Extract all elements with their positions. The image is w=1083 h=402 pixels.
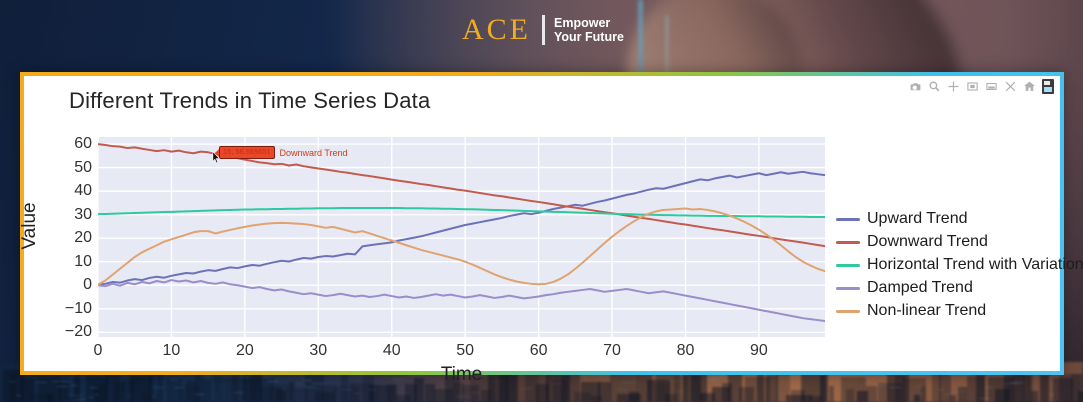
- cityscape-building: [829, 386, 835, 402]
- legend-item[interactable]: Downward Trend: [836, 231, 1083, 253]
- cityscape-building: [950, 395, 956, 402]
- cityscape-window-light: [980, 398, 990, 399]
- y-axis-tick-label: 50: [74, 159, 92, 177]
- series-canvas: [98, 137, 825, 337]
- cityscape-window-light: [234, 392, 243, 393]
- y-axis-tick-label: 60: [74, 135, 92, 153]
- tooltip-trace-name: Downward Trend: [280, 148, 348, 158]
- cityscape-window-light: [306, 387, 316, 388]
- legend-item[interactable]: Damped Trend: [836, 277, 1083, 299]
- logo-tagline-line1: Empower: [554, 16, 624, 30]
- legend-item-label: Horizontal Trend with Variation: [867, 256, 1083, 274]
- x-axis-tick-label: 0: [94, 342, 103, 360]
- cityscape-window-light: [956, 391, 965, 392]
- cityscape-window-light: [282, 389, 286, 390]
- x-axis-tick-label: 70: [603, 342, 621, 360]
- autoscale-icon[interactable]: [1004, 80, 1017, 93]
- cityscape-window-light: [341, 389, 352, 390]
- cityscape-window-light: [95, 394, 98, 395]
- cityscape-window-light: [368, 389, 376, 390]
- cityscape-window-light: [52, 381, 67, 382]
- cityscape-window-light: [355, 393, 359, 394]
- zoom-icon[interactable]: [928, 80, 941, 93]
- cityscape-building: [276, 389, 287, 402]
- download-plot-as-png-icon[interactable]: [909, 80, 922, 93]
- y-axis-tick-label: −10: [65, 300, 92, 318]
- chart-panel: Different Trends in Time Series Data Val…: [20, 72, 1064, 375]
- y-axis-tick-label: 40: [74, 182, 92, 200]
- ace-wordmark: ACE: [462, 15, 531, 45]
- cityscape-window-light: [127, 396, 132, 397]
- page-title: Different Trends in Time Series Data: [69, 88, 430, 114]
- series-line: [98, 172, 825, 285]
- cityscape-window-light: [74, 399, 85, 400]
- cityscape-window-light: [71, 385, 77, 386]
- plotly-logo-icon[interactable]: [1042, 79, 1054, 94]
- mouse-cursor-icon: [212, 151, 221, 164]
- cityscape-window-light: [918, 386, 922, 387]
- reset-axes-icon[interactable]: [1023, 80, 1036, 93]
- cityscape-window-light: [1012, 382, 1026, 383]
- cityscape-building: [1031, 391, 1038, 402]
- cityscape-building: [387, 384, 395, 402]
- cityscape-window-light: [195, 394, 204, 395]
- legend-item[interactable]: Non-linear Trend: [836, 300, 1083, 322]
- x-axis-tick-label: 50: [456, 342, 474, 360]
- cityscape-window-light: [303, 386, 307, 387]
- cityscape-window-light: [175, 387, 184, 388]
- cityscape-window-light: [153, 387, 165, 388]
- cityscape-window-light: [89, 397, 95, 398]
- cityscape-window-light: [16, 395, 21, 396]
- hover-tooltip: 15, 56.569651 Downward Trend: [210, 146, 347, 159]
- pan-icon[interactable]: [947, 80, 960, 93]
- cityscape-building: [10, 375, 16, 402]
- lasso-select-icon[interactable]: [985, 80, 998, 93]
- cityscape-building: [47, 394, 53, 402]
- logo-tagline-line2: Your Future: [554, 30, 624, 44]
- y-axis-tick-label: −20: [65, 323, 92, 341]
- x-axis-ticks: 0102030405060708090: [98, 342, 825, 364]
- cityscape-window-light: [36, 382, 47, 383]
- cityscape-window-light: [678, 391, 683, 392]
- cityscape-window-light: [1050, 394, 1053, 395]
- series-line: [98, 209, 825, 285]
- legend-item-label: Non-linear Trend: [867, 302, 986, 320]
- cityscape-window-light: [523, 388, 532, 389]
- cityscape-window-light: [1049, 383, 1055, 384]
- legend-item[interactable]: Horizontal Trend with Variation: [836, 254, 1083, 276]
- cityscape-building: [1023, 374, 1031, 402]
- cityscape-window-light: [471, 392, 481, 393]
- cityscape-window-light: [618, 389, 629, 390]
- legend-swatch-icon: [836, 287, 860, 290]
- x-axis-tick-label: 80: [677, 342, 695, 360]
- cityscape-building: [1040, 374, 1048, 402]
- cityscape-window-light: [152, 396, 157, 397]
- cityscape-window-light: [940, 390, 943, 391]
- tooltip-value: 15, 56.569651: [219, 146, 274, 159]
- legend-item-label: Downward Trend: [867, 233, 988, 251]
- cityscape-window-light: [913, 394, 923, 395]
- cityscape-window-light: [90, 387, 98, 388]
- y-axis-tick-label: 10: [74, 253, 92, 271]
- box-select-icon[interactable]: [966, 80, 979, 93]
- legend-swatch-icon: [836, 218, 860, 221]
- cityscape-window-light: [986, 387, 993, 388]
- x-axis-label: Time: [98, 364, 825, 386]
- cityscape-building: [976, 371, 985, 402]
- plotly-modebar[interactable]: [909, 79, 1054, 94]
- cityscape-window-light: [456, 396, 471, 397]
- cityscape-window-light: [9, 381, 16, 382]
- chart-legend[interactable]: Upward TrendDownward TrendHorizontal Tre…: [836, 208, 1083, 322]
- x-axis-tick-label: 30: [309, 342, 327, 360]
- cityscape-window-light: [881, 377, 894, 378]
- x-axis-tick-label: 20: [236, 342, 254, 360]
- x-axis-tick-label: 10: [163, 342, 181, 360]
- ace-logo: ACE Empower Your Future: [462, 10, 624, 50]
- logo-tagline: Empower Your Future: [554, 16, 624, 44]
- y-axis-tick-label: 30: [74, 206, 92, 224]
- cityscape-building: [425, 384, 435, 402]
- cityscape-window-light: [68, 395, 82, 396]
- cityscape-window-light: [890, 387, 902, 388]
- y-axis-ticks: 6050403020100−10−20: [24, 137, 92, 337]
- cityscape-building: [958, 387, 967, 402]
- legend-swatch-icon: [836, 310, 860, 313]
- logo-divider: [542, 15, 545, 45]
- cityscape-window-light: [944, 394, 954, 395]
- cityscape-window-light: [67, 381, 72, 382]
- legend-item-label: Damped Trend: [867, 279, 973, 297]
- series-line: [98, 280, 825, 321]
- legend-swatch-icon: [836, 264, 860, 267]
- cityscape-building: [866, 386, 876, 402]
- y-axis-tick-label: 0: [83, 276, 92, 294]
- y-axis-tick-label: 20: [74, 229, 92, 247]
- legend-item-label: Upward Trend: [867, 210, 968, 228]
- cityscape-building: [846, 389, 854, 402]
- cityscape-window-light: [71, 376, 85, 377]
- plot-area[interactable]: [98, 137, 825, 337]
- x-axis-tick-label: 90: [750, 342, 768, 360]
- cityscape-window-light: [57, 386, 68, 387]
- cityscape-building: [1078, 391, 1083, 402]
- cityscape-window-light: [873, 385, 884, 386]
- x-axis-tick-label: 60: [530, 342, 548, 360]
- legend-swatch-icon: [836, 241, 860, 244]
- legend-item[interactable]: Upward Trend: [836, 208, 1083, 230]
- x-axis-tick-label: 40: [383, 342, 401, 360]
